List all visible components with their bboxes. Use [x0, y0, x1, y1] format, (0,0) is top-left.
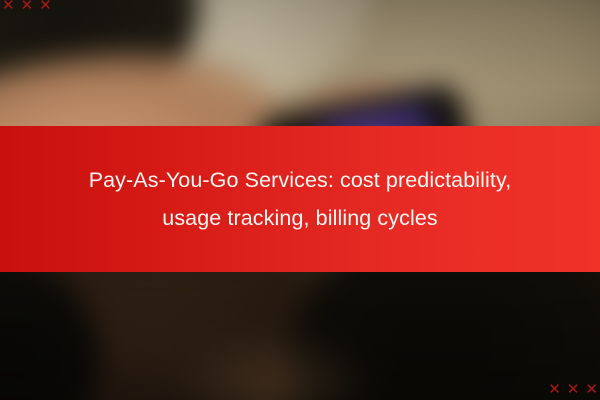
x-icon: ✕	[21, 0, 34, 13]
title-banner: Pay-As-You-Go Services: cost predictabil…	[0, 126, 600, 272]
x-icon: ✕	[567, 382, 580, 397]
x-icon: ✕	[2, 0, 15, 13]
banner-title-line-1: Pay-As-You-Go Services: cost predictabil…	[50, 161, 550, 199]
bottom-right-marker-group: ✕ ✕ ✕	[548, 382, 598, 397]
x-icon: ✕	[548, 382, 561, 397]
banner-title: Pay-As-You-Go Services: cost predictabil…	[50, 161, 550, 237]
x-icon: ✕	[39, 0, 52, 13]
x-icon: ✕	[585, 382, 598, 397]
screenshot-root: ✕ ✕ ✕ Pay-As-You-Go Services: cost predi…	[0, 0, 600, 400]
banner-title-line-2: usage tracking, billing cycles	[50, 199, 550, 237]
top-left-marker-group: ✕ ✕ ✕	[2, 0, 52, 13]
